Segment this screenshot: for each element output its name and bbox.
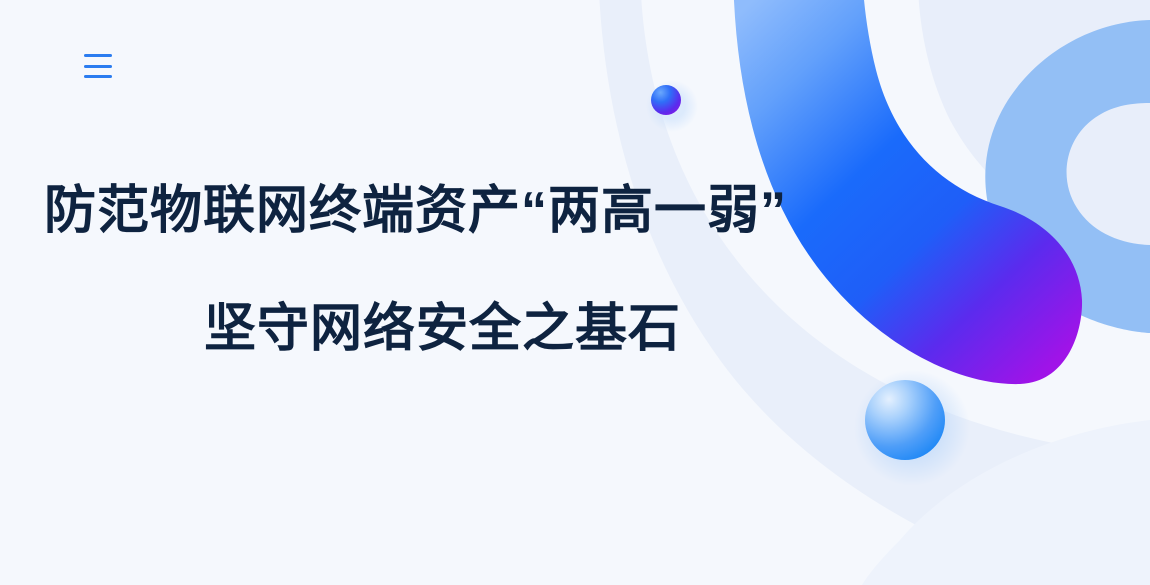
large-blue-sphere <box>865 380 945 460</box>
small-gradient-sphere <box>651 85 681 115</box>
slide-canvas: 防范物联网终端资产“两高一弱” 坚守网络安全之基石 <box>0 0 1150 585</box>
pale-upper-disc <box>918 0 1150 250</box>
title-line-1: 防范物联网终端资产“两高一弱” <box>44 178 880 244</box>
pale-corner-sweep <box>862 420 1150 585</box>
hamburger-bar-bottom <box>84 75 112 78</box>
title-line-2: 坚守网络安全之基石 <box>204 296 880 362</box>
light-blue-arc <box>985 20 1150 333</box>
large-sphere-glow <box>854 370 970 486</box>
hamburger-bar-top <box>84 54 112 57</box>
hamburger-menu-icon[interactable] <box>84 52 116 80</box>
page-title: 防范物联网终端资产“两高一弱” 坚守网络安全之基石 <box>0 178 880 362</box>
hamburger-bar-middle <box>84 65 112 68</box>
small-sphere-glow <box>646 80 698 132</box>
